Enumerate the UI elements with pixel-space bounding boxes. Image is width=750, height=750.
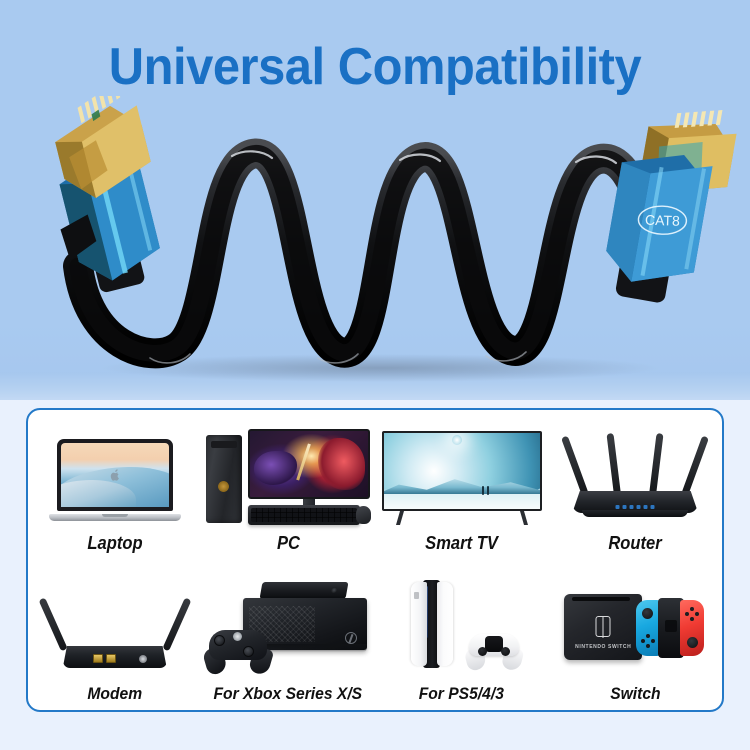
device-cell-modem[interactable]: Modem xyxy=(28,560,202,710)
joycon-right-icon xyxy=(680,600,704,656)
nintendo-switch-icon: NINTENDO SWITCH xyxy=(549,580,723,676)
playstation-console-icon xyxy=(375,580,549,676)
device-cell-switch[interactable]: NINTENDO SWITCH Switch xyxy=(549,560,723,710)
device-label: Switch xyxy=(610,684,660,704)
device-grid: Laptop PC xyxy=(28,410,722,710)
device-label: Laptop xyxy=(87,533,142,554)
device-cell-laptop[interactable]: Laptop xyxy=(28,410,202,560)
dualsense-controller-icon xyxy=(461,630,527,670)
device-label: PC xyxy=(277,533,300,554)
device-label: Modem xyxy=(87,684,142,704)
modem-icon xyxy=(28,580,202,676)
device-cell-xbox[interactable]: For Xbox Series X/S xyxy=(202,560,376,710)
svg-text:CAT8: CAT8 xyxy=(645,212,680,229)
device-label: For PS5/4/3 xyxy=(419,684,504,704)
device-cell-playstation[interactable]: For PS5/4/3 xyxy=(375,560,549,710)
cable-ribbon: CAT8 xyxy=(0,96,750,396)
device-label: For Xbox Series X/S xyxy=(214,684,363,704)
device-label: Router xyxy=(609,533,662,554)
rj45-connector-right: CAT8 xyxy=(599,96,740,311)
page-title: Universal Compatibility xyxy=(23,38,728,96)
device-label: Smart TV xyxy=(425,533,498,554)
device-cell-smart-tv[interactable]: Smart TV xyxy=(375,410,549,560)
laptop-icon xyxy=(28,429,202,525)
desktop-pc-icon xyxy=(202,429,376,525)
xbox-console-icon xyxy=(202,580,376,676)
xbox-controller-icon xyxy=(203,624,273,670)
smart-tv-icon xyxy=(375,429,549,525)
compatibility-card: Laptop PC xyxy=(26,408,724,712)
device-cell-pc[interactable]: PC xyxy=(202,410,376,560)
rj45-connector-left xyxy=(28,96,178,299)
product-image: Universal Compatibility xyxy=(0,0,750,750)
device-cell-router[interactable]: Router xyxy=(549,410,723,560)
cable-illustration: CAT8 xyxy=(0,96,750,396)
apple-logo-icon xyxy=(109,470,120,483)
router-icon xyxy=(549,429,723,525)
switch-dock-label: NINTENDO SWITCH xyxy=(575,644,631,650)
joycon-left-icon xyxy=(636,600,660,656)
